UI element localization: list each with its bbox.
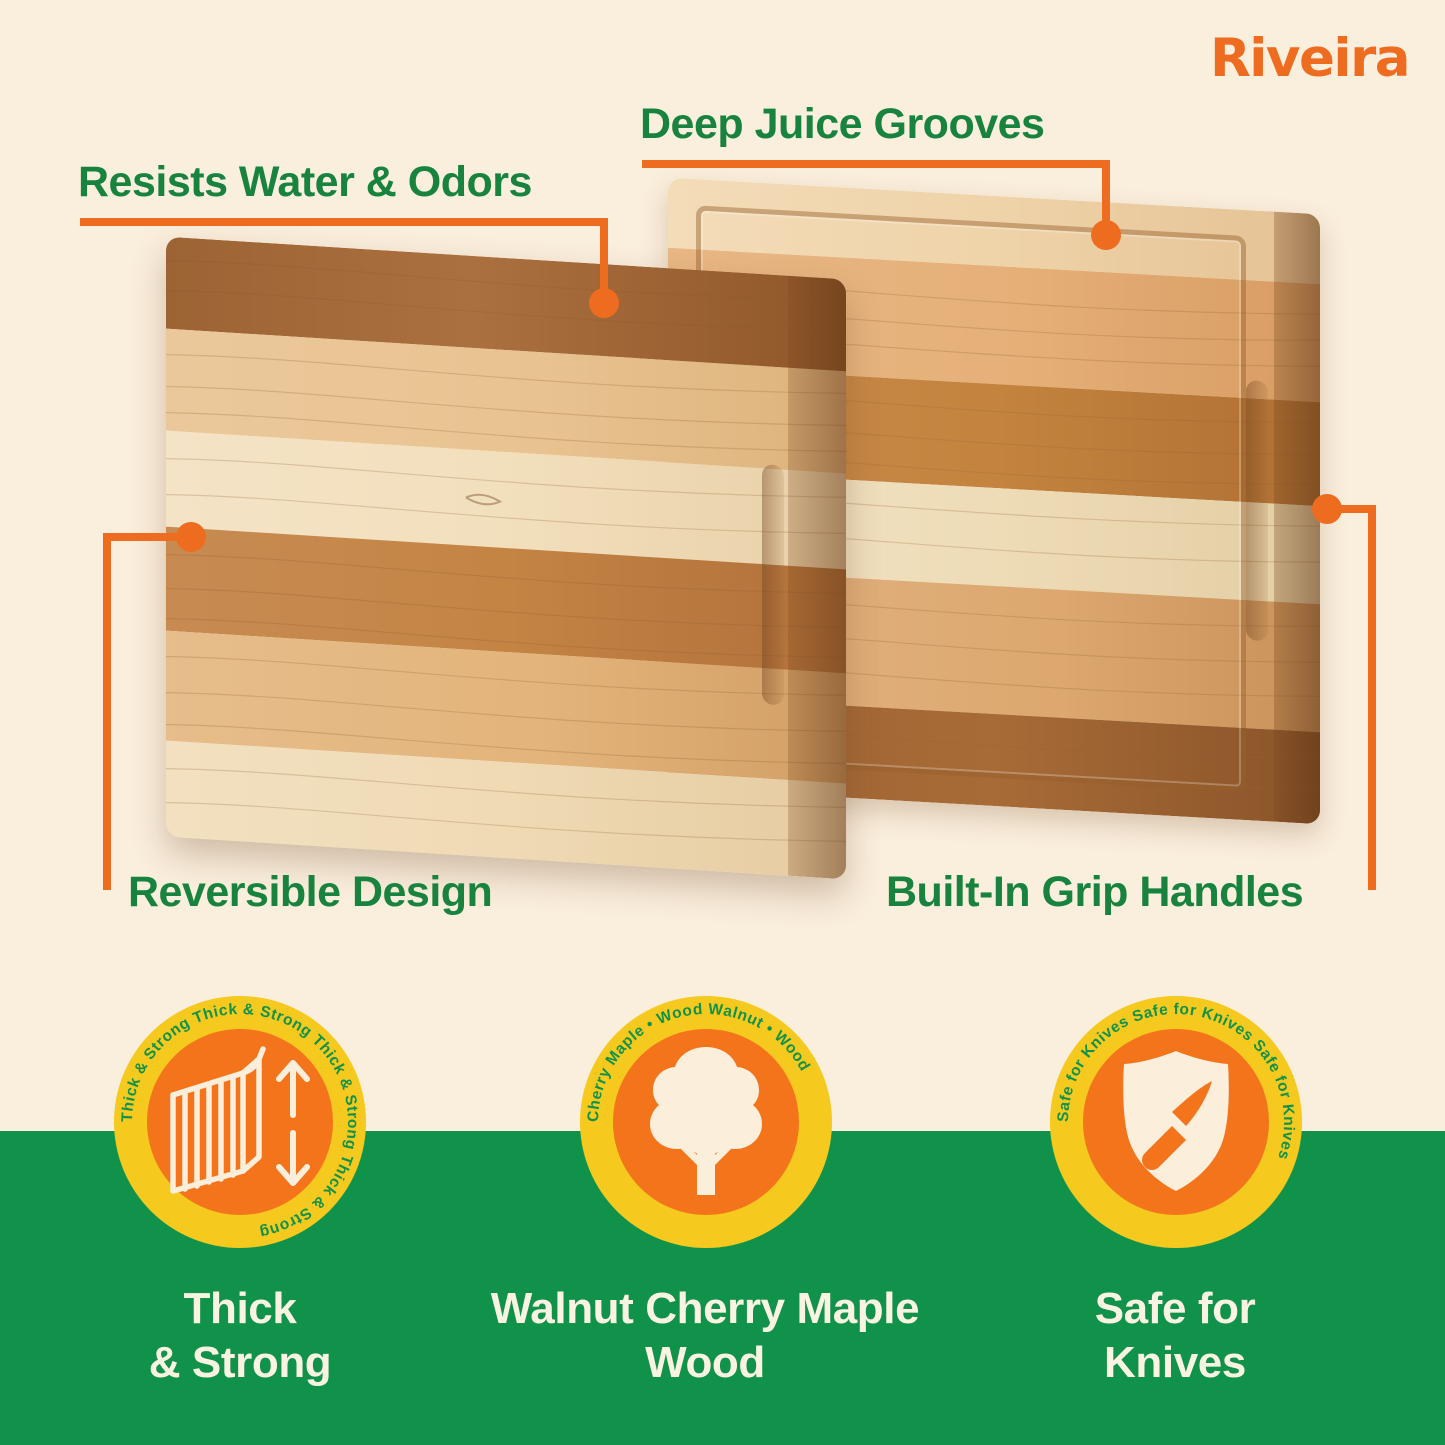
badge-walnut-cherry-maple-wood: Cherry Maple • Wood Walnut • Wood <box>580 996 832 1248</box>
badge-thick-and-strong: Thick & Strong Thick & Strong Thick & St… <box>114 996 366 1248</box>
cutting-board-front <box>166 237 846 880</box>
wood-grain-front <box>166 237 846 880</box>
callout-label-deep-juice-grooves: Deep Juice Grooves <box>640 100 1044 149</box>
tree-icon <box>613 1029 799 1215</box>
caption-line-1: Safe for <box>1020 1282 1330 1336</box>
infographic-canvas: Riveira <box>0 0 1445 1445</box>
callout-line-resists-vertical <box>600 218 608 298</box>
caption-line-2: & Strong <box>60 1336 420 1390</box>
board-thickness-icon <box>147 1029 333 1215</box>
callout-dot-grooves <box>1091 220 1121 250</box>
callout-label-built-in-grip-handles: Built-In Grip Handles <box>886 868 1303 917</box>
shield-knife-icon <box>1083 1029 1269 1215</box>
badge-caption-safe-for-knives: Safe for Knives <box>1020 1282 1330 1389</box>
board-edge-front <box>788 276 846 880</box>
callout-line-handles-vertical <box>1368 505 1376 890</box>
badge-caption-walnut-cherry-maple-wood: Walnut Cherry Maple Wood <box>455 1282 955 1389</box>
caption-line-2: Knives <box>1020 1336 1330 1390</box>
badge-caption-thick-and-strong: Thick & Strong <box>60 1282 420 1389</box>
callout-label-reversible-design: Reversible Design <box>128 868 492 917</box>
grip-handle-front <box>762 464 784 705</box>
caption-line-1: Walnut Cherry Maple <box>455 1282 955 1336</box>
badge-safe-for-knives: Safe for Knives Safe for Knives Safe for… <box>1050 996 1302 1248</box>
callout-line-resists-horizontal <box>80 218 608 226</box>
caption-line-2: Wood <box>455 1336 955 1390</box>
callout-line-grooves-horizontal <box>642 160 1110 168</box>
callout-dot-resists <box>589 288 619 318</box>
callout-label-resists-water-odors: Resists Water & Odors <box>78 158 532 207</box>
callout-line-reversible-horizontal <box>103 533 185 541</box>
grip-handle-back <box>1246 380 1268 641</box>
board-edge-back <box>1274 212 1320 825</box>
brand-logo: Riveira <box>1210 28 1409 89</box>
callout-line-reversible-vertical <box>103 533 111 890</box>
caption-line-1: Thick <box>60 1282 420 1336</box>
